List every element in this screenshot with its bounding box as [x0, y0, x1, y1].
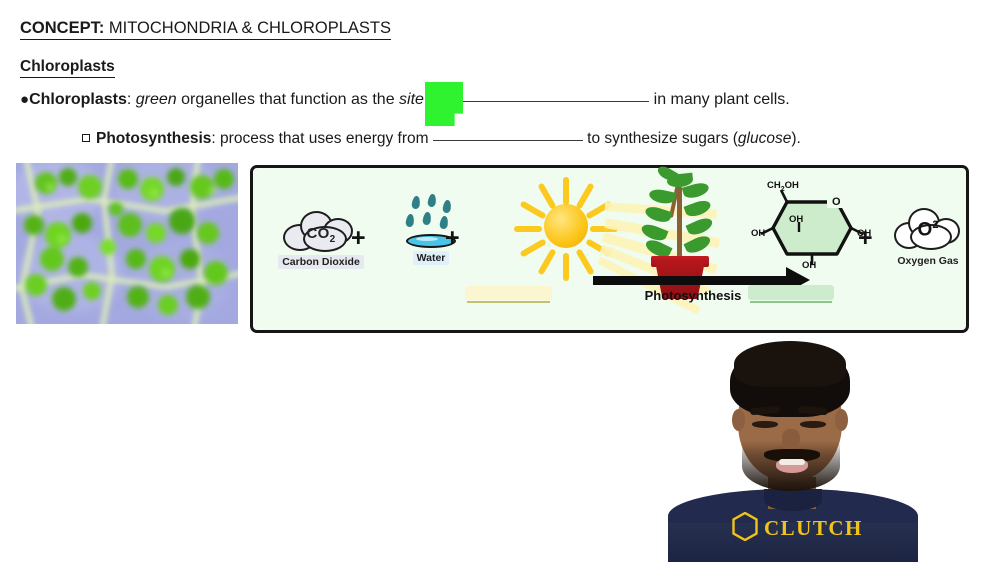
- fill-in-blank-2[interactable]: [433, 140, 583, 141]
- hexagon-logo-icon: [732, 512, 758, 541]
- plus-sign-3: +: [858, 226, 873, 251]
- water-label: Water: [413, 251, 450, 265]
- bullet-marker: ●: [20, 91, 29, 108]
- presenter-eye-right: [800, 421, 826, 428]
- presenter-hair-top: [734, 341, 846, 387]
- bullet-colon: :: [127, 91, 136, 108]
- sub-bullet-text-end: ).: [791, 130, 800, 147]
- sub-bullet-text-2: to synthesize sugars (: [583, 130, 738, 147]
- bullet-chloroplasts: ●Chloroplasts: green organelles that fun…: [20, 91, 790, 109]
- square-bullet-icon: [82, 134, 90, 142]
- sub-bullet-text-1: process that uses energy from: [220, 130, 433, 147]
- presenter-nose: [782, 429, 800, 451]
- glucose-inner-oh-label: OH: [789, 214, 803, 225]
- o2-formula: O2: [892, 219, 964, 241]
- bullet-term: Chloroplasts: [29, 91, 127, 108]
- sub-bullet-term: Photosynthesis: [96, 130, 211, 147]
- page-title: CONCEPT: MITOCHONDRIA & CHLOROPLASTS: [20, 19, 391, 40]
- reactant-water: Water: [381, 196, 481, 266]
- bullet-text-mid: of: [424, 91, 446, 108]
- sub-bullet-colon: :: [211, 130, 220, 147]
- micrograph-image: [16, 163, 238, 324]
- bullet-emphasis-green: green: [136, 91, 177, 108]
- co2-formula: CO2: [283, 225, 359, 245]
- bullet-text-2: in many plant cells.: [649, 91, 790, 108]
- glucose-left-oh-label: OH: [751, 228, 765, 239]
- bullet-photosynthesis: Photosynthesis: process that uses energy…: [82, 130, 801, 148]
- glucose-ring-o-label: O: [832, 196, 841, 208]
- bullet-text-1: organelles that function as the: [177, 91, 399, 108]
- carbon-dioxide-label: Carbon Dioxide: [278, 255, 364, 269]
- sub-bullet-emphasis-glucose: glucose: [738, 130, 791, 147]
- concept-label: CONCEPT:: [20, 19, 104, 37]
- plus-sign-2: +: [445, 226, 460, 251]
- presenter-teeth: [779, 459, 805, 465]
- fill-in-blank-1[interactable]: [446, 101, 649, 102]
- presenter-ear-left: [732, 409, 745, 431]
- presenter-video: CLUTCH: [660, 337, 920, 562]
- presenter-collar: [764, 489, 822, 511]
- sun-core: [544, 204, 588, 248]
- presenter-eye-left: [752, 421, 778, 428]
- glucose-fill-in-blank[interactable]: [748, 285, 834, 300]
- presenter-ear-right: [835, 409, 848, 431]
- glucose-bottom-oh-label: OH: [802, 260, 816, 271]
- co2-cloud-icon: CO2: [283, 208, 359, 252]
- concept-title: MITOCHONDRIA & CHLOROPLASTS: [104, 19, 391, 37]
- o2-cloud-icon: O2: [892, 206, 964, 252]
- oxygen-gas-label: Oxygen Gas: [883, 255, 973, 267]
- bullet-emphasis-site: site: [399, 91, 424, 108]
- chloroplast-micrograph: [16, 163, 238, 324]
- photosynthesis-diagram: CO2 Carbon Dioxide + Water +: [250, 165, 969, 333]
- section-subheading: Chloroplasts: [20, 58, 115, 78]
- glucose-ch2oh-label: CH2OH: [767, 180, 799, 193]
- energy-fill-in-blank[interactable]: [465, 286, 552, 300]
- product-oxygen-gas: O2 Oxygen Gas: [883, 206, 973, 267]
- brand-name: CLUTCH: [764, 516, 863, 541]
